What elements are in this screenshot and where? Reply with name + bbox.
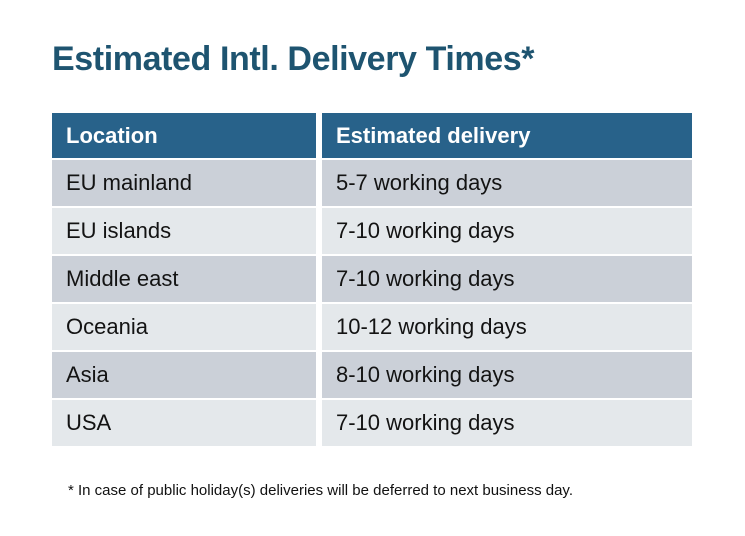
delivery-times-table: Location Estimated delivery EU mainland … — [52, 113, 692, 448]
table-row: Middle east 7-10 working days — [52, 256, 692, 302]
cell-location: Oceania — [52, 304, 316, 350]
cell-estimated-delivery: 7-10 working days — [322, 208, 692, 254]
cell-location: Middle east — [52, 256, 316, 302]
cell-estimated-delivery: 10-12 working days — [322, 304, 692, 350]
cell-location: EU islands — [52, 208, 316, 254]
table-row: Asia 8-10 working days — [52, 352, 692, 398]
cell-location: Asia — [52, 352, 316, 398]
cell-location: EU mainland — [52, 160, 316, 206]
table-row: EU islands 7-10 working days — [52, 208, 692, 254]
cell-estimated-delivery: 5-7 working days — [322, 160, 692, 206]
table-header-row: Location Estimated delivery — [52, 113, 692, 158]
footnote-text: * In case of public holiday(s) deliverie… — [68, 481, 573, 501]
table-row: EU mainland 5-7 working days — [52, 160, 692, 206]
cell-location: USA — [52, 400, 316, 446]
cell-estimated-delivery: 8-10 working days — [322, 352, 692, 398]
delivery-times-page: Estimated Intl. Delivery Times* Location… — [0, 0, 745, 536]
column-header-location: Location — [52, 113, 316, 158]
cell-estimated-delivery: 7-10 working days — [322, 400, 692, 446]
column-header-estimated-delivery: Estimated delivery — [322, 113, 692, 158]
table-row: Oceania 10-12 working days — [52, 304, 692, 350]
page-title: Estimated Intl. Delivery Times* — [52, 38, 534, 80]
cell-estimated-delivery: 7-10 working days — [322, 256, 692, 302]
table-row: USA 7-10 working days — [52, 400, 692, 446]
